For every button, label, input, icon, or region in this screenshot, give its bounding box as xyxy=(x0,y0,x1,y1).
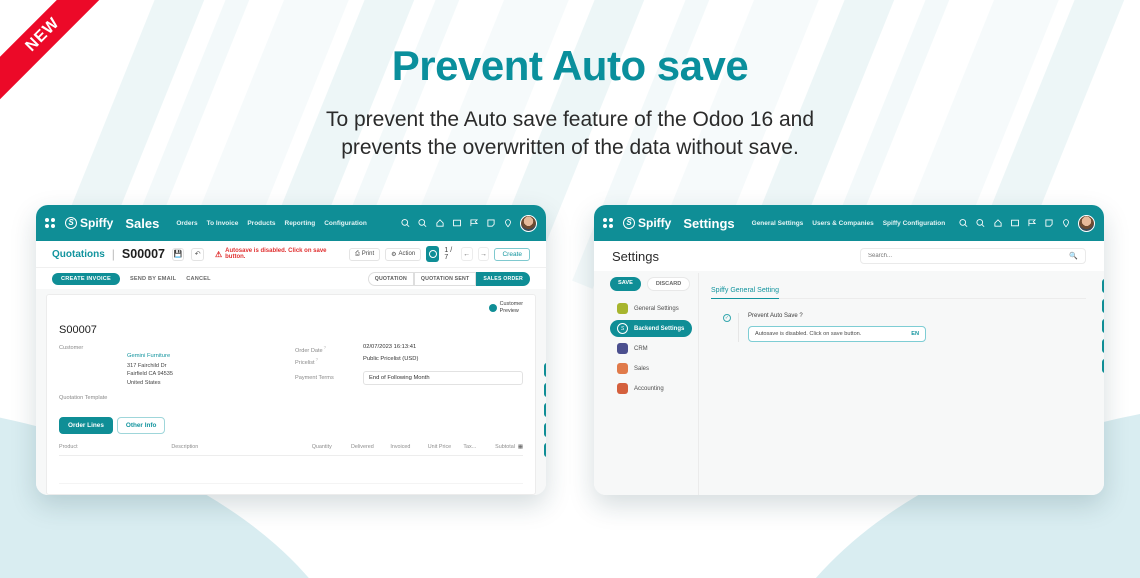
nav-item-spiffy-configuration[interactable]: Spiffy Configuration xyxy=(883,220,945,227)
discard-button[interactable]: DISCARD xyxy=(647,277,690,291)
settings-navbar-right xyxy=(959,215,1095,232)
field-order-date-value[interactable]: 02/07/2023 16:13:41 xyxy=(363,344,416,354)
page-title: Prevent Auto save xyxy=(0,42,1140,90)
nav-item-reporting[interactable]: Reporting xyxy=(285,220,316,227)
sales-navbar: S Spiffy Sales Orders To Invoice Product… xyxy=(36,205,546,241)
note-icon[interactable] xyxy=(1044,218,1054,228)
autosave-message-input[interactable]: Autosave is disabled. Click on save butt… xyxy=(748,326,926,342)
col-description: Description xyxy=(171,444,311,450)
star-icon[interactable] xyxy=(544,363,546,377)
sidebar-item-label: Backend Settings xyxy=(634,326,684,332)
customer-preview-label: Customer Preview xyxy=(500,301,523,315)
breadcrumb-quotations[interactable]: Quotations xyxy=(52,249,105,260)
avatar[interactable] xyxy=(520,215,537,232)
nav-item-configuration[interactable]: Configuration xyxy=(324,220,367,227)
subtitle-line-2: prevents the overwritten of the data wit… xyxy=(341,136,799,159)
print-label: Print xyxy=(362,251,374,257)
action-button[interactable]: ⚙ Action xyxy=(385,248,421,261)
star-icon[interactable] xyxy=(1102,279,1104,293)
brand-name: Spiffy xyxy=(638,216,671,230)
check-circle-icon[interactable]: ✓ xyxy=(723,314,731,322)
col-unit-price: Unit Price xyxy=(428,444,464,450)
link-icon[interactable] xyxy=(544,403,546,417)
field-quotation-template-label: Quotation Template xyxy=(59,394,107,401)
sidebar-item-general-settings[interactable]: General Settings xyxy=(610,300,692,317)
chevron-left-icon[interactable]: ← xyxy=(461,247,473,261)
col-quantity: Quantity xyxy=(312,444,351,450)
sales-chart-icon xyxy=(617,363,628,374)
sales-nav-menu: Orders To Invoice Products Reporting Con… xyxy=(176,220,366,227)
breadcrumb-current: S00007 xyxy=(122,247,165,261)
warning-triangle-icon: ⚠ xyxy=(215,250,222,259)
home-icon[interactable] xyxy=(993,218,1003,228)
field-customer-value[interactable]: Gemini Furniture xyxy=(127,353,170,359)
new-ribbon: NEW xyxy=(0,0,108,108)
create-button[interactable]: Create xyxy=(494,248,530,261)
stage-sales-order[interactable]: SALES ORDER xyxy=(476,272,530,286)
field-payment-terms: Payment Terms End of Following Month xyxy=(295,371,523,385)
field-pricelist: Pricelist Public Pricelist (USD) xyxy=(295,356,523,366)
chevron-right-icon[interactable]: → xyxy=(478,247,490,261)
col-tax: Tax... xyxy=(463,444,495,450)
sales-status-bar: CREATE INVOICE SEND BY EMAIL CANCEL QUOT… xyxy=(36,267,546,289)
address-line-3: United States xyxy=(127,379,173,387)
messages-icon[interactable] xyxy=(959,218,969,228)
option-label: Prevent Auto Save ? xyxy=(748,313,1086,319)
sidebar-item-label: Accounting xyxy=(634,386,664,392)
nav-item-to-invoice[interactable]: To Invoice xyxy=(207,220,239,227)
field-pricelist-value[interactable]: Public Pricelist (USD) xyxy=(363,356,418,366)
form-tabs: Order Lines Other Info xyxy=(59,417,523,434)
nav-item-orders[interactable]: Orders xyxy=(176,220,197,227)
customer-preview-line-1: Customer xyxy=(500,301,523,307)
customer-address: 317 Fairchild Dr Fairfield CA 94535 Unit… xyxy=(127,362,173,387)
autosave-message-value: Autosave is disabled. Click on save butt… xyxy=(755,331,861,337)
search-input[interactable] xyxy=(868,253,1065,259)
customer-preview-button[interactable]: Customer Preview xyxy=(59,301,523,315)
form-sheet-inner: Customer Preview S00007 Customer Gemini … xyxy=(46,294,536,495)
spiffy-s-icon: S xyxy=(623,217,635,229)
language-badge[interactable]: EN xyxy=(911,331,919,337)
tab-other-info[interactable]: Other Info xyxy=(117,417,166,434)
settings-header: Settings 🔍 xyxy=(594,241,1104,271)
column-settings-icon[interactable]: ▦ xyxy=(518,444,523,450)
field-order-date: Order Date 02/07/2023 16:13:41 xyxy=(295,344,523,354)
nav-item-users-and-companies[interactable]: Users & Companies xyxy=(812,220,873,227)
enterprise-icon[interactable] xyxy=(452,218,462,228)
sidebar-item-backend-settings[interactable]: S Backend Settings xyxy=(610,320,692,337)
sales-control-bar: Quotations | S00007 💾 ↶ ⚠ Autosave is di… xyxy=(36,241,546,267)
accounting-doc-icon xyxy=(617,383,628,394)
spiffy-s-icon: S xyxy=(617,323,628,334)
sales-form-sheet: Customer Preview S00007 Customer Gemini … xyxy=(36,289,546,495)
settings-search-box[interactable]: 🔍 xyxy=(860,248,1086,264)
apps-grid-icon[interactable] xyxy=(603,218,613,228)
action-label: Action xyxy=(399,251,416,257)
location-icon[interactable] xyxy=(1061,218,1071,228)
autosave-warning: ⚠ Autosave is disabled. Click on save bu… xyxy=(215,248,342,260)
page-subtitle: To prevent the Auto save feature of the … xyxy=(0,106,1140,161)
payment-terms-input[interactable]: End of Following Month xyxy=(363,371,523,385)
sales-app-screenshot: S Spiffy Sales Orders To Invoice Product… xyxy=(36,205,546,495)
enterprise-icon[interactable] xyxy=(1010,218,1020,228)
settings-actions: SAVE DISCARD xyxy=(610,277,692,291)
location-icon[interactable] xyxy=(503,218,513,228)
col-subtotal: Subtotal xyxy=(495,444,515,450)
settings-app-screenshot: S Spiffy Settings General Settings Users… xyxy=(594,205,1104,495)
breadcrumb-separator: | xyxy=(112,247,115,261)
field-order-date-label: Order Date xyxy=(295,344,357,354)
messages-icon[interactable] xyxy=(401,218,411,228)
print-icon: ⎙ xyxy=(355,251,360,258)
order-lines-table-header: Product Description Quantity Delivered I… xyxy=(59,444,523,456)
order-lines-table-body xyxy=(59,456,523,484)
stage-selector: QUOTATION QUOTATION SENT SALES ORDER xyxy=(368,272,530,286)
search-icon[interactable]: 🔍 xyxy=(1069,252,1078,260)
current-app-name: Settings xyxy=(683,216,734,231)
stage-quotation[interactable]: QUOTATION xyxy=(368,272,414,286)
settings-navbar: S Spiffy Settings General Settings Users… xyxy=(594,205,1104,241)
field-pricelist-label: Pricelist xyxy=(295,356,357,366)
activities-icon[interactable] xyxy=(976,218,986,228)
col-product: Product xyxy=(59,444,171,450)
field-payment-terms-label: Payment Terms xyxy=(295,371,357,381)
sidebar-item-label: Sales xyxy=(634,366,649,372)
search-circle-icon[interactable] xyxy=(1102,299,1104,313)
nav-item-products[interactable]: Products xyxy=(247,220,275,227)
gear-settings-icon xyxy=(617,303,628,314)
settings-nav-menu: General Settings Users & Companies Spiff… xyxy=(752,220,946,227)
form-right-column: Order Date 02/07/2023 16:13:41 Pricelist… xyxy=(295,344,523,403)
form-left-column: Customer Gemini Furniture 317 Fairchild … xyxy=(59,344,275,403)
control-bar-right: ⎙ Print ⚙ Action 1 / 7 ← → Create xyxy=(349,246,530,262)
globe-icon xyxy=(489,304,497,312)
sales-navbar-right xyxy=(401,215,537,232)
gear-icon: ⚙ xyxy=(391,251,396,258)
magnifier-icon[interactable] xyxy=(1102,339,1104,353)
brand-logo[interactable]: S Spiffy xyxy=(65,216,113,230)
save-cloud-icon[interactable]: 💾 xyxy=(172,248,184,261)
bookmark-icon[interactable] xyxy=(544,443,546,457)
sales-fab-rail xyxy=(544,363,546,457)
col-invoiced: Invoiced xyxy=(390,444,427,450)
customer-preview-line-2: Preview xyxy=(500,308,519,314)
create-invoice-button[interactable]: CREATE INVOICE xyxy=(52,273,120,285)
field-customer-label: Customer xyxy=(59,344,121,387)
pager-count: 1 / 7 xyxy=(444,247,455,261)
brand-name: Spiffy xyxy=(80,216,113,230)
sidebar-item-sales[interactable]: Sales xyxy=(610,360,692,377)
subtitle-line-1: To prevent the Auto save feature of the … xyxy=(326,108,814,131)
search-circle-icon[interactable] xyxy=(544,383,546,397)
settings-page-title: Settings xyxy=(612,249,659,264)
sidebar-item-crm[interactable]: CRM xyxy=(610,340,692,357)
form-columns: Customer Gemini Furniture 317 Fairchild … xyxy=(59,344,523,403)
print-button[interactable]: ⎙ Print xyxy=(349,248,380,261)
settings-fab-rail xyxy=(1102,279,1104,373)
settings-body: SAVE DISCARD General Settings S Backend … xyxy=(594,271,1104,495)
option-body: Prevent Auto Save ? Autosave is disabled… xyxy=(738,313,1086,342)
address-line-1: 317 Fairchild Dr xyxy=(127,362,173,370)
settings-content: Spiffy General Setting ✓ Prevent Auto Sa… xyxy=(698,273,1104,495)
stage-quotation-sent[interactable]: QUOTATION SENT xyxy=(414,272,476,286)
crm-icon xyxy=(617,343,628,354)
activities-icon[interactable] xyxy=(418,218,428,228)
settings-sidebar: SAVE DISCARD General Settings S Backend … xyxy=(594,273,698,495)
section-title: Spiffy General Setting xyxy=(711,287,779,299)
field-customer: Customer Gemini Furniture 317 Fairchild … xyxy=(59,344,275,387)
link-icon[interactable] xyxy=(1102,319,1104,333)
home-icon[interactable] xyxy=(435,218,445,228)
tab-order-lines[interactable]: Order Lines xyxy=(59,417,113,434)
prevent-auto-save-option: ✓ Prevent Auto Save ? Autosave is disabl… xyxy=(711,313,1086,342)
magnifier-icon[interactable] xyxy=(544,423,546,437)
cancel-button[interactable]: CANCEL xyxy=(186,276,211,282)
brand-logo[interactable]: S Spiffy xyxy=(623,216,671,230)
signal-icon[interactable] xyxy=(469,218,479,228)
spiffy-s-icon: S xyxy=(65,217,77,229)
loading-circle-icon[interactable] xyxy=(426,246,439,262)
send-by-email-button[interactable]: SEND BY EMAIL xyxy=(130,276,176,282)
autosave-warning-text: Autosave is disabled. Click on save butt… xyxy=(225,248,342,260)
apps-grid-icon[interactable] xyxy=(45,218,55,228)
sidebar-item-label: CRM xyxy=(634,346,648,352)
record-title: S00007 xyxy=(59,324,523,336)
sidebar-item-label: General Settings xyxy=(634,306,679,312)
address-line-2: Fairfield CA 94535 xyxy=(127,370,173,378)
sidebar-item-accounting[interactable]: Accounting xyxy=(610,380,692,397)
discard-undo-icon[interactable]: ↶ xyxy=(191,248,203,261)
col-delivered: Delivered xyxy=(351,444,390,450)
signal-icon[interactable] xyxy=(1027,218,1037,228)
new-ribbon-label: NEW xyxy=(0,0,108,106)
screenshot-cards: S Spiffy Sales Orders To Invoice Product… xyxy=(0,205,1140,495)
headline-block: Prevent Auto save To prevent the Auto sa… xyxy=(0,0,1140,161)
save-button[interactable]: SAVE xyxy=(610,277,641,291)
current-app-name: Sales xyxy=(125,216,159,231)
section-title-wrap: Spiffy General Setting xyxy=(711,279,1086,299)
avatar[interactable] xyxy=(1078,215,1095,232)
bookmark-icon[interactable] xyxy=(1102,359,1104,373)
field-quotation-template: Quotation Template xyxy=(59,394,275,401)
nav-item-general-settings[interactable]: General Settings xyxy=(752,220,804,227)
note-icon[interactable] xyxy=(486,218,496,228)
field-customer-value-group: Gemini Furniture 317 Fairchild Dr Fairfi… xyxy=(127,344,173,387)
